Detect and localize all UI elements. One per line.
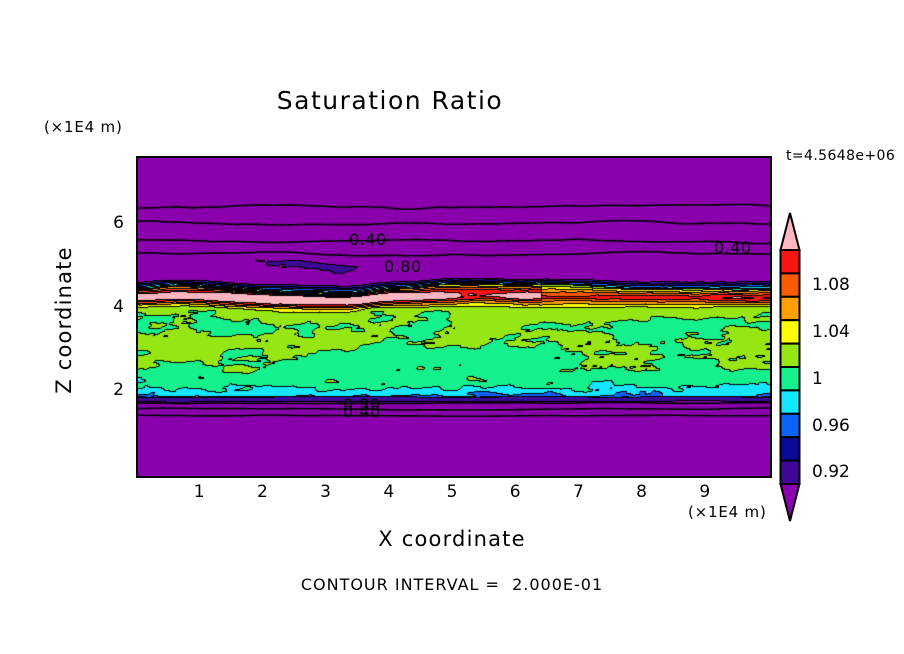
colorbar [779,212,801,522]
y-major-tick [136,224,138,226]
x-minor-tick [554,476,556,478]
y-minor-tick-right [770,308,772,310]
x-major-tick [263,476,265,478]
y-minor-tick-right [770,245,772,247]
y-minor-tick-right [770,370,772,372]
x-minor-tick-top [466,156,468,158]
x-major-tick-top [643,156,645,158]
x-minor-tick-top [440,156,442,158]
x-minor-tick [617,476,619,478]
x-minor-tick [491,476,493,478]
x-minor-tick [643,476,645,478]
y-minor-tick [136,245,138,247]
x-minor-tick-top [744,156,746,158]
x-tick-label: 4 [374,482,404,502]
x-major-tick [390,476,392,478]
colorbar-band [781,344,800,367]
x-minor-tick-top [668,156,670,158]
x-minor-tick [630,476,632,478]
y-minor-tick-right [770,391,772,393]
x-tick-label: 5 [437,482,467,502]
x-minor-tick [756,476,758,478]
colorbar-tick-label: 1.08 [812,275,850,295]
x-minor-tick [681,476,683,478]
x-major-tick-top [706,156,708,158]
x-major-tick [453,476,455,478]
colorbar-band [781,414,800,437]
y-minor-tick [136,433,138,435]
y-minor-tick-right [770,349,772,351]
x-minor-tick-top [301,156,303,158]
x-minor-tick [466,476,468,478]
x-major-tick [643,476,645,478]
x-minor-tick-top [213,156,215,158]
y-tick-label: 2 [98,380,124,400]
colorbar-band [781,461,800,484]
x-minor-tick [415,476,417,478]
time-annotation: t=4.5648e+06 [786,148,895,164]
contour-level-label: 0.40 [343,402,381,421]
x-minor-tick-top [137,156,139,158]
y-minor-tick [136,182,138,184]
contour-level-label: 0.80 [384,257,422,276]
x-minor-tick [592,476,594,478]
x-minor-tick [516,476,518,478]
x-minor-tick [213,476,215,478]
x-minor-tick-top [718,156,720,158]
x-minor-tick-top [731,156,733,158]
colorbar-graphic [779,212,801,522]
y-tick-label: 6 [98,213,124,233]
x-minor-tick-top [567,156,569,158]
x-minor-tick [339,476,341,478]
y-minor-tick [136,370,138,372]
x-minor-tick [402,476,404,478]
x-minor-tick-top [756,156,758,158]
x-minor-tick-top [188,156,190,158]
x-major-tick-top [327,156,329,158]
x-minor-tick-top [175,156,177,158]
y-minor-tick [136,203,138,205]
y-minor-tick-right [770,454,772,456]
x-major-tick [579,476,581,478]
x-minor-tick [188,476,190,478]
x-minor-tick [289,476,291,478]
contour-level-label: 0.40 [349,230,387,249]
y-minor-tick-right [770,266,772,268]
x-major-tick-top [200,156,202,158]
x-minor-tick-top [238,156,240,158]
x-minor-tick [706,476,708,478]
x-minor-tick-top [478,156,480,158]
y-minor-tick-right [770,182,772,184]
colorbar-top-arrow [781,213,800,250]
x-tick-label: 1 [184,482,214,502]
x-tick-label: 7 [563,482,593,502]
x-minor-tick-top [289,156,291,158]
x-tick-label: 8 [627,482,657,502]
colorbar-bottom-arrow [781,484,800,521]
colorbar-band [781,273,800,296]
x-minor-tick-top [150,156,152,158]
x-major-tick [200,476,202,478]
x-minor-tick-top [529,156,531,158]
x-minor-tick [251,476,253,478]
y-minor-tick-right [770,224,772,226]
colorbar-band [781,390,800,413]
x-minor-tick [541,476,543,478]
colorbar-tick-label: 1 [812,369,823,389]
x-minor-tick [504,476,506,478]
x-minor-tick-top [592,156,594,158]
x-major-tick-top [263,156,265,158]
y-major-tick [136,391,138,393]
saturation-ratio-field [138,158,770,476]
x-minor-tick [162,476,164,478]
x-minor-tick-top [314,156,316,158]
contour-interval-caption: CONTOUR INTERVAL = 2.000E-01 [0,575,904,594]
x-major-tick [327,476,329,478]
x-minor-tick [731,476,733,478]
x-tick-label: 6 [500,482,530,502]
y-minor-tick [136,287,138,289]
y-minor-tick [136,266,138,268]
y-major-tick-right [770,224,772,226]
x-minor-tick-top [630,156,632,158]
colorbar-tick-label: 0.92 [812,462,850,482]
x-minor-tick [150,476,152,478]
x-minor-tick-top [504,156,506,158]
x-minor-tick [693,476,695,478]
x-minor-tick [200,476,202,478]
x-tick-label: 2 [247,482,277,502]
x-minor-tick-top [339,156,341,158]
x-minor-tick [137,476,139,478]
x-minor-tick-top [541,156,543,158]
x-minor-tick-top [554,156,556,158]
x-minor-tick-top [769,156,771,158]
x-minor-tick [327,476,329,478]
x-minor-tick-top [402,156,404,158]
y-minor-tick [136,475,138,477]
x-minor-tick [655,476,657,478]
x-minor-tick-top [251,156,253,158]
colorbar-band [781,320,800,343]
x-minor-tick-top [693,156,695,158]
x-minor-tick [428,476,430,478]
figure-canvas: Saturation Ratio (×1E4 m) t=4.5648e+06 0… [0,0,904,654]
y-minor-tick-right [770,161,772,163]
x-minor-tick [744,476,746,478]
x-minor-tick-top [655,156,657,158]
x-minor-tick [276,476,278,478]
y-major-tick-right [770,308,772,310]
y-minor-tick-right [770,475,772,477]
page-title: Saturation Ratio [0,86,780,115]
x-minor-tick [769,476,771,478]
y-axis-units-label: (×1E4 m) [44,118,123,136]
x-minor-tick [579,476,581,478]
x-minor-tick-top [377,156,379,158]
y-major-tick [136,308,138,310]
x-minor-tick [440,476,442,478]
contour-plot-area: 0.400.400.800.800.40 [136,156,772,478]
y-minor-tick [136,161,138,163]
x-minor-tick [453,476,455,478]
x-minor-tick-top [162,156,164,158]
x-minor-tick-top [415,156,417,158]
y-major-tick-right [770,391,772,393]
x-major-tick-top [390,156,392,158]
x-tick-label: 9 [690,482,720,502]
x-minor-tick [301,476,303,478]
y-minor-tick-right [770,287,772,289]
x-minor-tick [377,476,379,478]
x-minor-tick [365,476,367,478]
x-major-tick-top [516,156,518,158]
x-major-tick-top [453,156,455,158]
y-axis-title: Z coordinate [52,230,76,410]
colorbar-tick-label: 0.96 [812,416,850,436]
x-major-tick-top [579,156,581,158]
colorbar-band [781,367,800,390]
x-major-tick [706,476,708,478]
x-minor-tick-top [617,156,619,158]
x-major-tick [516,476,518,478]
contour-level-label: 0.40 [714,238,752,257]
x-minor-tick-top [681,156,683,158]
x-minor-tick [605,476,607,478]
x-minor-tick-top [491,156,493,158]
x-minor-tick-top [225,156,227,158]
y-minor-tick-right [770,433,772,435]
x-minor-tick [352,476,354,478]
y-minor-tick-right [770,412,772,414]
colorbar-band [781,437,800,460]
colorbar-tick-label: 1.04 [812,322,850,342]
x-minor-tick-top [428,156,430,158]
y-minor-tick [136,329,138,331]
x-axis-units-label: (×1E4 m) [688,503,767,521]
x-minor-tick [529,476,531,478]
x-minor-tick [263,476,265,478]
x-minor-tick-top [365,156,367,158]
x-axis-title: X coordinate [136,527,768,551]
y-tick-label: 4 [98,297,124,317]
y-minor-tick-right [770,329,772,331]
x-minor-tick [567,476,569,478]
x-tick-label: 3 [311,482,341,502]
x-minor-tick [718,476,720,478]
x-minor-tick [314,476,316,478]
x-minor-tick-top [605,156,607,158]
x-minor-tick [478,476,480,478]
x-minor-tick [390,476,392,478]
x-minor-tick-top [352,156,354,158]
x-minor-tick-top [276,156,278,158]
x-minor-tick [668,476,670,478]
x-minor-tick [175,476,177,478]
y-minor-tick-right [770,203,772,205]
y-minor-tick [136,412,138,414]
x-minor-tick [238,476,240,478]
y-minor-tick [136,454,138,456]
colorbar-band [781,297,800,320]
colorbar-band [781,250,800,273]
x-minor-tick [225,476,227,478]
y-minor-tick [136,349,138,351]
